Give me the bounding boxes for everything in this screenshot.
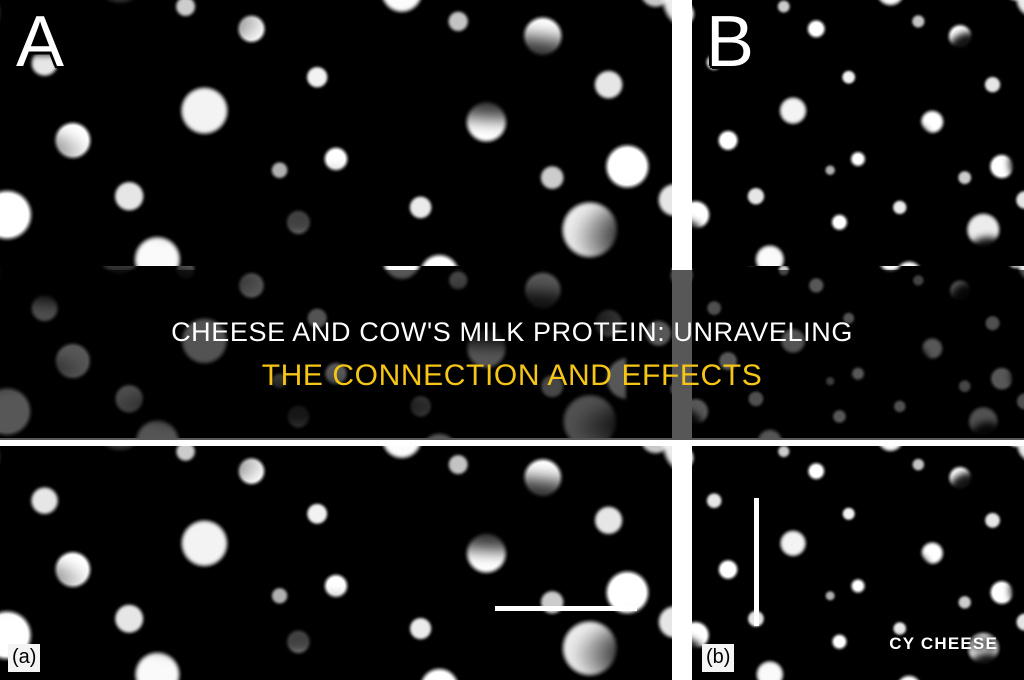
title-line-secondary: THE CONNECTION AND EFFECTS [262,359,763,392]
micrograph-panel-c [0,446,672,680]
panel-label-a-lower: (a) [8,644,40,672]
micrograph-panel-d [692,446,1024,680]
texture-highlights [692,446,1024,680]
texture-highlights [0,446,672,680]
micrograph-panel-b [692,0,1024,266]
micrograph-composite-image: A B (a) (b) CHEESE AND COW'S MILK PROTEI… [0,0,1024,680]
micrograph-panel-a [0,0,672,266]
panel-label-b-lower: (b) [702,644,734,672]
texture-highlights [0,0,672,266]
scale-bar-vertical-icon [754,498,759,626]
scale-bar-horizontal-icon [495,606,637,611]
texture-highlights [692,0,1024,266]
title-line-primary: CHEESE AND COW'S MILK PROTEIN: UNRAVELIN… [171,318,853,348]
title-overlay-band: CHEESE AND COW'S MILK PROTEIN: UNRAVELIN… [0,270,1024,440]
